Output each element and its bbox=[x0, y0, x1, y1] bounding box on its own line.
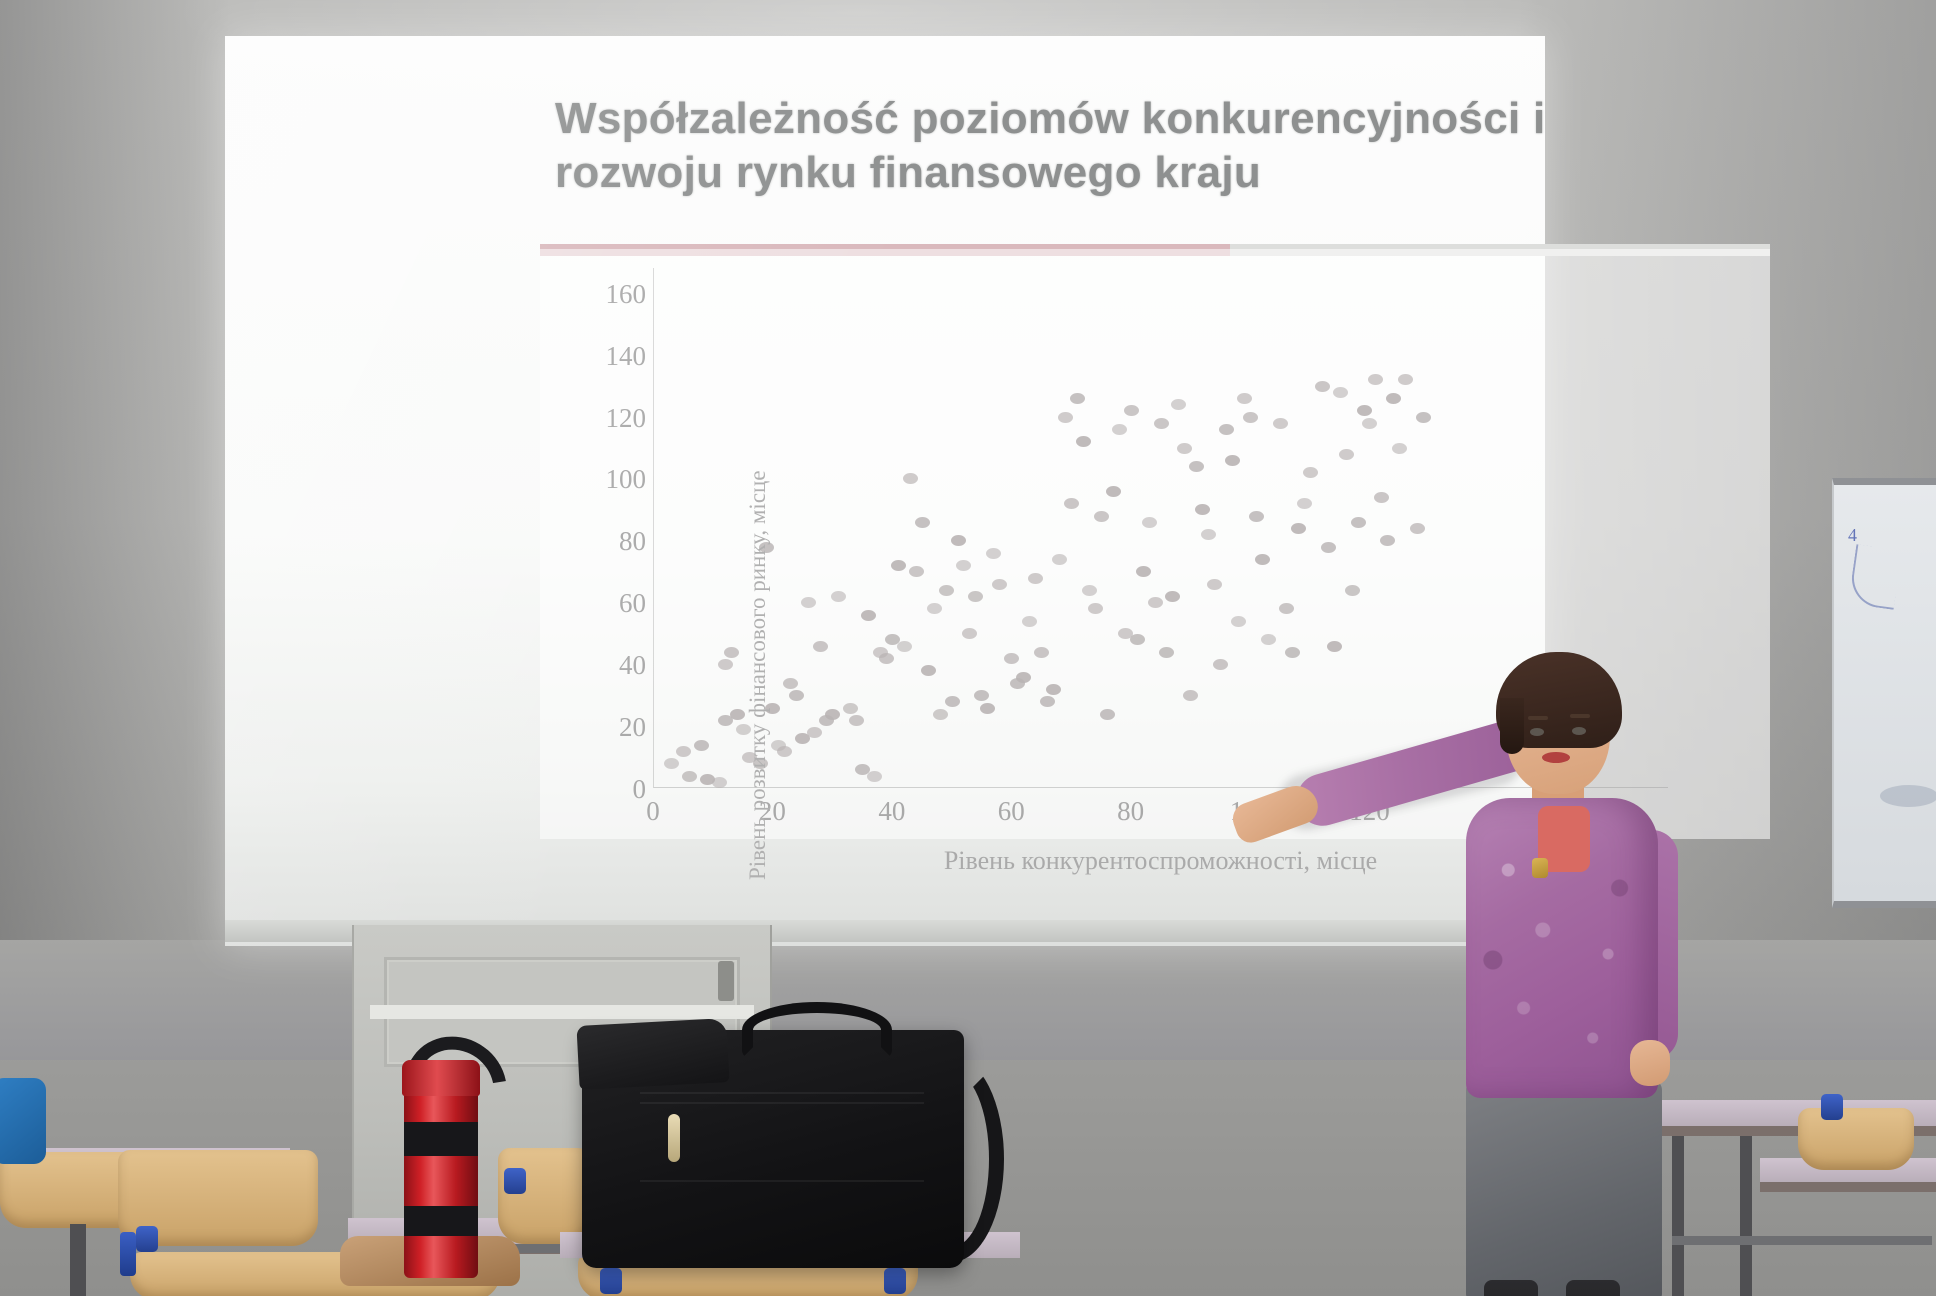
bag-zipper-pull-icon[interactable] bbox=[668, 1114, 680, 1162]
scatter-point bbox=[1273, 418, 1288, 429]
scatter-point bbox=[1082, 585, 1097, 596]
eye-left bbox=[1530, 728, 1544, 736]
y-axis-tick-label: 80 bbox=[576, 526, 646, 557]
slide-title: Współzależność poziomów konkurencyjności… bbox=[555, 92, 1605, 199]
whiteboard-curve-mark bbox=[1848, 544, 1902, 610]
y-axis-tick-label: 60 bbox=[576, 588, 646, 619]
y-axis-tick-label: 100 bbox=[576, 464, 646, 495]
scatter-point bbox=[1142, 517, 1157, 528]
scatter-point bbox=[986, 548, 1001, 559]
scatter-point bbox=[1094, 511, 1109, 522]
scatter-point bbox=[718, 659, 733, 670]
scatter-point bbox=[1052, 554, 1067, 565]
eyebrow-left bbox=[1528, 716, 1548, 720]
chair-cap-left-mid bbox=[136, 1226, 158, 1252]
scatter-point bbox=[1148, 597, 1163, 608]
eyebrow-right bbox=[1570, 714, 1590, 718]
desk-leg-r1 bbox=[1672, 1136, 1684, 1296]
scatter-point bbox=[915, 517, 930, 528]
scatter-point bbox=[849, 715, 864, 726]
thermos-band-1 bbox=[404, 1122, 478, 1156]
x-axis-tick-label: 60 bbox=[976, 796, 1046, 827]
scatter-point bbox=[1243, 412, 1258, 423]
bag-seam-1 bbox=[640, 1092, 924, 1094]
bag-seam-2 bbox=[640, 1102, 924, 1104]
scatter-point bbox=[1357, 405, 1372, 416]
scatter-point bbox=[951, 535, 966, 546]
whiteboard-mark-1: 4 bbox=[1848, 525, 1857, 546]
scatter-point bbox=[676, 746, 691, 757]
x-axis-tick-label: 80 bbox=[1096, 796, 1166, 827]
scatter-point bbox=[825, 709, 840, 720]
scatter-point bbox=[945, 696, 960, 707]
scatter-point bbox=[730, 709, 745, 720]
y-axis-tick-label: 140 bbox=[576, 341, 646, 372]
scatter-point bbox=[1136, 566, 1151, 577]
chair-back-right[interactable] bbox=[1798, 1108, 1914, 1170]
scatter-point bbox=[1416, 412, 1431, 423]
lecture-room: Współzależność poziomów konkurencyjności… bbox=[0, 0, 1936, 1296]
scatter-point bbox=[694, 740, 709, 751]
bag-handle[interactable] bbox=[742, 1002, 892, 1058]
scatter-point bbox=[867, 771, 882, 782]
scatter-point bbox=[980, 703, 995, 714]
chair-cap-front-2 bbox=[884, 1268, 906, 1294]
scatter-point bbox=[1022, 616, 1037, 627]
scatter-point bbox=[1058, 412, 1073, 423]
scatter-point bbox=[1106, 486, 1121, 497]
scatter-point bbox=[843, 703, 858, 714]
x-axis-tick-label: 40 bbox=[857, 796, 927, 827]
y-axis-tick-label: 160 bbox=[576, 279, 646, 310]
x-axis-tick-label: 0 bbox=[618, 796, 688, 827]
scatter-point bbox=[1327, 641, 1342, 652]
scatter-point bbox=[992, 579, 1007, 590]
scatter-point bbox=[1219, 424, 1234, 435]
scatter-point bbox=[1249, 511, 1264, 522]
scatter-point bbox=[724, 647, 739, 658]
scatter-point bbox=[1297, 498, 1312, 509]
scatter-point bbox=[897, 641, 912, 652]
scatter-point bbox=[891, 560, 906, 571]
scatter-point bbox=[1237, 393, 1252, 404]
desk-crossbar-right bbox=[1672, 1236, 1932, 1245]
chair-cap-center bbox=[504, 1168, 526, 1194]
scatter-point bbox=[1100, 709, 1115, 720]
scatter-point bbox=[1225, 455, 1240, 466]
chair-cap-right bbox=[1821, 1094, 1843, 1120]
scatter-point bbox=[1315, 381, 1330, 392]
scatter-point bbox=[1231, 616, 1246, 627]
scatter-point bbox=[1285, 647, 1300, 658]
bag-flap bbox=[576, 1018, 729, 1090]
scatter-point bbox=[1351, 517, 1366, 528]
presenter bbox=[1270, 680, 1690, 1296]
desk-leg-r2 bbox=[1740, 1136, 1752, 1296]
scatter-point bbox=[1339, 449, 1354, 460]
bag-seam-3 bbox=[640, 1180, 924, 1182]
brooch-icon bbox=[1532, 858, 1548, 878]
blue-bag bbox=[0, 1078, 46, 1164]
scatter-point bbox=[1112, 424, 1127, 435]
scatter-point bbox=[939, 585, 954, 596]
scatter-point bbox=[1177, 443, 1192, 454]
scatter-point bbox=[1291, 523, 1306, 534]
scatter-point bbox=[682, 771, 697, 782]
scatter-point bbox=[1333, 387, 1348, 398]
scatter-point bbox=[879, 653, 894, 664]
scatter-point bbox=[1034, 647, 1049, 658]
scatter-point bbox=[1016, 672, 1031, 683]
chair-cap-front-1 bbox=[600, 1268, 622, 1294]
boot-right bbox=[1566, 1280, 1620, 1296]
y-axis-tick-label: 120 bbox=[576, 403, 646, 434]
y-axis-tick-label: 40 bbox=[576, 650, 646, 681]
chair-back-center[interactable] bbox=[498, 1148, 590, 1244]
thermos-cap bbox=[402, 1060, 480, 1096]
presenter-skirt bbox=[1466, 1080, 1662, 1296]
eye-right bbox=[1572, 727, 1586, 735]
desk-leg-l1 bbox=[70, 1224, 86, 1296]
scatter-point bbox=[861, 610, 876, 621]
scatter-point bbox=[1154, 418, 1169, 429]
scatter-point bbox=[1345, 585, 1360, 596]
whiteboard-smudge bbox=[1880, 785, 1936, 807]
whiteboard: 4 bbox=[1832, 478, 1936, 908]
scatter-point bbox=[1207, 579, 1222, 590]
desk-edge-right-near bbox=[1760, 1182, 1936, 1192]
boot-left bbox=[1484, 1280, 1538, 1296]
thermos-band-2 bbox=[404, 1206, 478, 1236]
y-axis-tick-label: 20 bbox=[576, 712, 646, 743]
scatter-point bbox=[1321, 542, 1336, 553]
scatter-point bbox=[1255, 554, 1270, 565]
scatter-point bbox=[1392, 443, 1407, 454]
scatter-point bbox=[933, 709, 948, 720]
scatter-point bbox=[1046, 684, 1061, 695]
wall-shadow-left bbox=[0, 0, 230, 1000]
scatter-point bbox=[1028, 573, 1043, 584]
presenter-right-hand bbox=[1630, 1040, 1670, 1086]
scatter-point bbox=[1070, 393, 1085, 404]
scatter-point bbox=[712, 777, 727, 788]
y-axis-label: Рівень розвитку фінансового ринку, місце bbox=[745, 470, 771, 880]
mouth bbox=[1542, 752, 1570, 763]
scatter-point bbox=[783, 678, 798, 689]
thermos bbox=[404, 1088, 478, 1278]
scatter-point bbox=[813, 641, 828, 652]
laptop-bag bbox=[582, 1030, 964, 1268]
pen-left bbox=[120, 1232, 136, 1276]
door-rail bbox=[370, 1005, 754, 1019]
door-lock-icon[interactable] bbox=[718, 961, 734, 1001]
